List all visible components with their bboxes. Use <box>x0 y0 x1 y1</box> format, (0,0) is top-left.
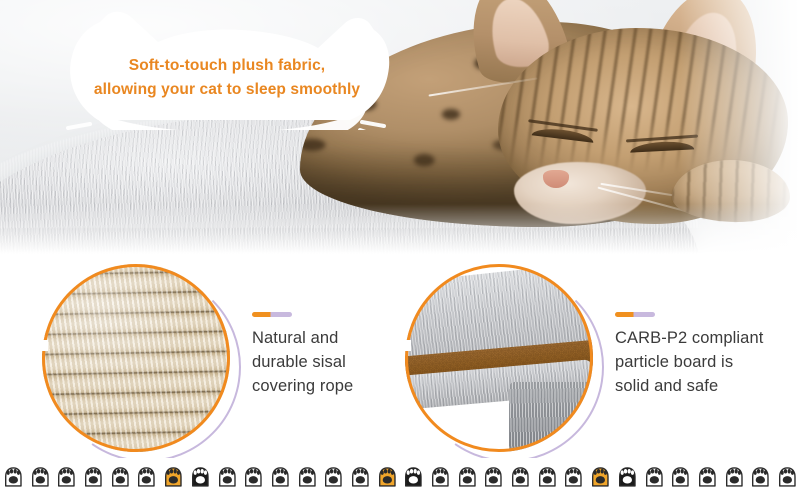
cat-paw-icon <box>560 463 587 489</box>
cat-paw-icon <box>214 463 241 489</box>
cat-paw-icon <box>107 463 134 489</box>
cat-paw-icon <box>507 463 534 489</box>
feature-particle-board: CARB-P2 compliant particle board is soli… <box>405 264 795 464</box>
feature-dash-marker <box>252 312 292 317</box>
cat-paw-icon <box>480 463 507 489</box>
cat-paw-icon <box>294 463 321 489</box>
feature-sisal-text: Natural and durable sisal covering rope <box>252 312 353 398</box>
cat-paw-icon <box>160 463 187 489</box>
feature-line: covering rope <box>252 374 353 398</box>
cat-paw-icon <box>267 463 294 489</box>
cat-paw-icon <box>427 463 454 489</box>
cat-paw-icon <box>347 463 374 489</box>
cat-paw-icon <box>133 463 160 489</box>
feature-line: durable sisal <box>252 350 353 374</box>
cat-paw-icon <box>534 463 561 489</box>
cat-paw-icon <box>187 463 214 489</box>
headline-text: Soft-to-touch plush fabric, allowing you… <box>62 54 392 102</box>
feature-line: Natural and <box>252 326 353 350</box>
feature-board-lines: CARB-P2 compliant particle board is soli… <box>615 326 763 398</box>
cat-paw-icon <box>454 463 481 489</box>
hero-bottom-fade <box>0 204 800 258</box>
cat-paw-icon <box>320 463 347 489</box>
cat-paw-icon <box>240 463 267 489</box>
product-feature-image: Soft-to-touch plush fabric, allowing you… <box>0 0 800 494</box>
feature-line: CARB-P2 compliant <box>615 326 763 350</box>
feature-line: particle board is <box>615 350 763 374</box>
circle-ring <box>42 264 230 452</box>
feature-sisal-rope: Natural and durable sisal covering rope <box>42 264 382 464</box>
feature-line: solid and safe <box>615 374 763 398</box>
cat-paw-icon <box>587 463 614 489</box>
cat-paw-icon <box>641 463 668 489</box>
headline-banner: Soft-to-touch plush fabric, allowing you… <box>62 8 392 130</box>
headline-line-2: allowing your cat to sleep smoothly <box>62 78 392 102</box>
circle-ring <box>405 264 593 452</box>
feature-board-text: CARB-P2 compliant particle board is soli… <box>615 312 763 398</box>
feature-board-circle <box>405 264 605 464</box>
feature-sisal-circle <box>42 264 242 464</box>
cat-paw-icon <box>53 463 80 489</box>
cat-paw-icon <box>747 463 774 489</box>
cat-paw-icon <box>774 463 800 489</box>
paw-print-strip <box>0 458 800 494</box>
cat-paw-icon <box>400 463 427 489</box>
cat-paw-icon <box>374 463 401 489</box>
circle-ring-gap <box>402 340 411 351</box>
cat-paw-icon <box>667 463 694 489</box>
cat-paw-icon <box>80 463 107 489</box>
cat-paw-icon <box>721 463 748 489</box>
cat-paw-icon <box>0 463 27 489</box>
cat-paw-icon <box>614 463 641 489</box>
cat-paw-icon <box>694 463 721 489</box>
feature-dash-marker <box>615 312 655 317</box>
cat-paw-icon <box>27 463 54 489</box>
headline-line-1: Soft-to-touch plush fabric, <box>129 57 325 74</box>
circle-ring-gap <box>39 340 48 351</box>
feature-sisal-lines: Natural and durable sisal covering rope <box>252 326 353 398</box>
